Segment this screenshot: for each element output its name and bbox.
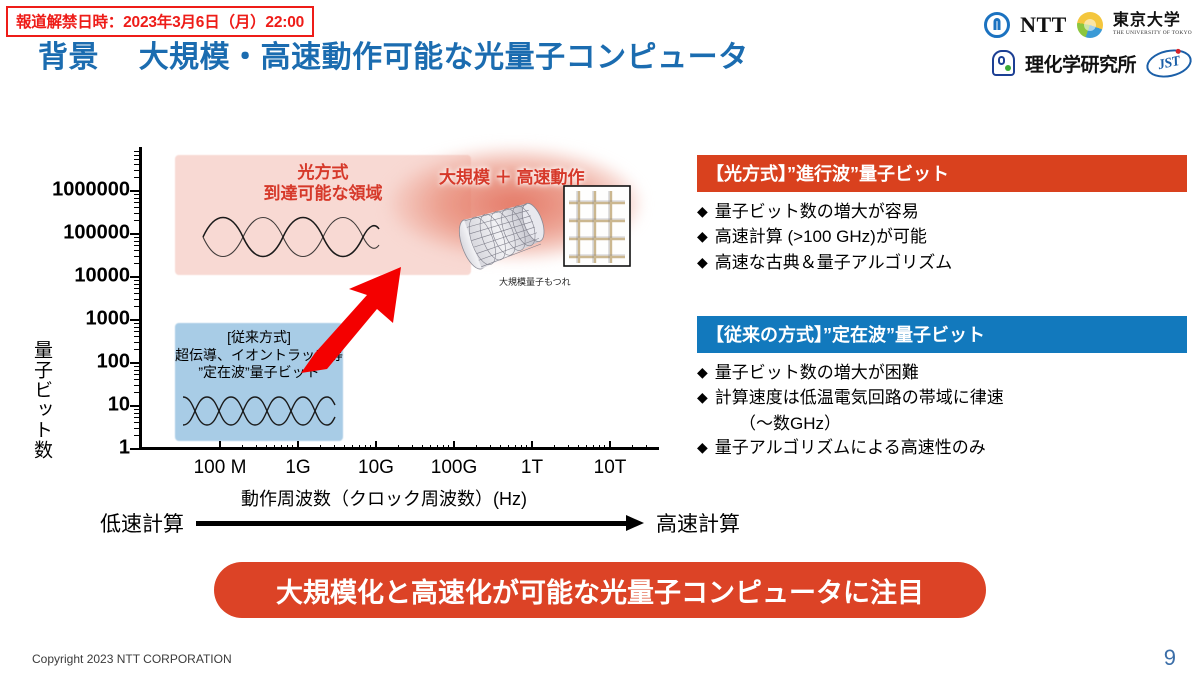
optical-method-heading: 【光方式】”進行波”量子ビット — [697, 155, 1187, 192]
diamond-bullet-icon: ◆ — [697, 362, 708, 384]
x-minor-tick — [430, 445, 431, 450]
x-minor-tick — [352, 445, 353, 450]
cluster-state-caption: 大規模量子もつれ — [499, 275, 571, 288]
y-minor-tick — [134, 250, 139, 251]
slide-root: 報道解禁日時：2023年3月6日（月）22:00 背景 大規模・高速動作可能な光… — [0, 0, 1200, 675]
x-minor-tick — [365, 445, 366, 450]
y-minor-tick — [134, 164, 139, 165]
y-minor-tick — [134, 198, 139, 199]
cluster-lattice-icon — [563, 185, 631, 267]
y-minor-tick — [134, 194, 139, 195]
x-minor-tick — [398, 445, 399, 450]
x-minor-tick — [437, 445, 438, 450]
x-minor-tick — [448, 445, 449, 450]
x-minor-tick — [334, 445, 335, 450]
tokyo-university-en: THE UNIVERSITY OF TOKYO — [1113, 31, 1192, 36]
qubit-vs-frequency-chart: 量子ビット数 光方式 到達可能な領域 [従来方式] 超伝導、イオントラップ等 ”… — [14, 140, 674, 540]
list-item: ◆ 量子アルゴリズムによる高速性のみ — [697, 437, 1187, 459]
speed-axis-left-label: 低速計算 — [100, 508, 184, 538]
x-minor-tick — [422, 445, 423, 450]
ntt-logo-label: NTT — [1020, 12, 1067, 38]
y-minor-tick — [134, 220, 139, 221]
conclusion-banner-text: 大規模化と高速化が可能な光量子コンピュータに注目 — [276, 571, 924, 610]
chart-plot-area: 光方式 到達可能な領域 [従来方式] 超伝導、イオントラップ等 ”定在波”量子ビ… — [139, 147, 659, 450]
y-minor-tick — [134, 331, 139, 332]
x-tick-label-100M: 100 M — [194, 457, 247, 479]
y-minor-tick — [134, 392, 139, 393]
y-minor-tick — [134, 237, 139, 238]
diamond-bullet-icon: ◆ — [697, 252, 708, 274]
y-minor-tick — [134, 327, 139, 328]
y-minor-tick — [134, 409, 139, 410]
y-tick-label-1000: 1000 — [86, 308, 131, 331]
list-item: ◆ 高速計算 (>100 GHz)が可能 — [697, 226, 1187, 248]
y-tick-100 — [130, 362, 139, 364]
optical-method-bullets: ◆ 量子ビット数の増大が容易 ◆ 高速計算 (>100 GHz)が可能 ◆ 高速… — [697, 201, 1187, 274]
x-minor-tick — [526, 445, 527, 450]
x-minor-tick — [281, 445, 282, 450]
list-item: ◆ 計算速度は低温電気回路の帯域に律速 — [697, 387, 1187, 409]
y-minor-tick — [134, 349, 139, 350]
x-minor-tick — [256, 445, 257, 450]
y-tick-label-10: 10 — [108, 394, 130, 417]
conclusion-banner: 大規模化と高速化が可能な光量子コンピュータに注目 — [214, 562, 986, 618]
y-minor-tick — [134, 370, 139, 371]
y-tick-1000 — [130, 319, 139, 321]
y-tick-label-100000: 100000 — [63, 222, 130, 245]
growth-arrow-icon — [297, 265, 407, 379]
y-minor-tick — [134, 256, 139, 257]
y-tick-10000 — [130, 276, 139, 278]
x-minor-tick — [320, 445, 321, 450]
x-minor-tick — [515, 445, 516, 450]
x-minor-tick — [412, 445, 413, 450]
y-tick-label-1: 1 — [119, 437, 130, 460]
y-minor-tick — [134, 159, 139, 160]
y-minor-tick — [134, 417, 139, 418]
page-number: 9 — [1164, 645, 1176, 671]
x-tick-label-10T: 10T — [594, 457, 627, 479]
x-minor-tick — [476, 445, 477, 450]
speed-arrow-bar — [196, 521, 628, 526]
x-minor-tick — [500, 445, 501, 450]
y-minor-tick — [134, 342, 139, 343]
x-minor-tick — [266, 445, 267, 450]
x-tick-100G — [453, 441, 455, 450]
conventional-method-panel: 【従来の方式】”定在波”量子ビット ◆ 量子ビット数の増大が困難 ◆ 計算速度は… — [697, 316, 1187, 463]
x-minor-tick — [287, 445, 288, 450]
copyright-text: Copyright 2023 NTT CORPORATION — [32, 652, 232, 666]
x-minor-tick — [578, 445, 579, 450]
x-minor-tick — [599, 445, 600, 450]
y-minor-tick — [134, 428, 139, 429]
x-minor-tick — [554, 445, 555, 450]
riken-logo-icon — [992, 50, 1015, 76]
diamond-bullet-icon: ◆ — [697, 437, 708, 459]
speed-axis: 低速計算 高速計算 — [100, 505, 740, 541]
list-item-text: 量子ビット数の増大が困難 — [715, 362, 919, 384]
standing-wave-icon — [181, 391, 337, 431]
y-minor-tick — [134, 435, 139, 436]
x-tick-label-10G: 10G — [358, 457, 394, 479]
y-minor-tick — [134, 336, 139, 337]
logo-row-top: NTT 東京大学 THE UNIVERSITY OF TOKYO — [912, 6, 1192, 44]
page-title-main: 大規模・高速動作可能な光量子コンピュータ — [139, 41, 749, 74]
y-minor-tick — [134, 385, 139, 386]
y-minor-tick — [134, 241, 139, 242]
list-item-text: 高速な古典＆量子アルゴリズム — [715, 252, 953, 274]
tokyo-university-jp: 東京大学 — [1113, 13, 1192, 29]
speed-axis-arrow-icon — [196, 518, 644, 528]
jst-logo-icon: JST — [1144, 45, 1195, 81]
y-minor-tick — [134, 170, 139, 171]
x-tick-label-1T: 1T — [521, 457, 543, 479]
speed-arrow-tip — [626, 515, 644, 531]
list-item-text: 計算速度は低温電気回路の帯域に律速 — [715, 387, 1004, 409]
y-tick-1000000 — [130, 190, 139, 192]
list-item: ◆ 量子ビット数の増大が困難 — [697, 362, 1187, 384]
y-tick-label-10000: 10000 — [74, 265, 130, 288]
y-minor-tick — [134, 422, 139, 423]
diamond-bullet-icon: ◆ — [697, 201, 708, 223]
conventional-method-heading: 【従来の方式】”定在波”量子ビット — [697, 316, 1187, 353]
y-minor-tick — [134, 379, 139, 380]
y-tick-10 — [130, 405, 139, 407]
y-tick-label-1000000: 1000000 — [52, 179, 130, 202]
x-minor-tick — [274, 445, 275, 450]
x-minor-tick — [344, 445, 345, 450]
y-minor-tick — [134, 374, 139, 375]
y-minor-tick — [134, 413, 139, 414]
x-tick-100M — [219, 441, 221, 450]
x-tick-label-1G: 1G — [285, 457, 310, 479]
x-minor-tick — [508, 445, 509, 450]
list-item: ◆ 量子ビット数の増大が容易 — [697, 201, 1187, 223]
chart-y-axis-title: 量子ビット数 — [28, 340, 55, 460]
y-minor-tick — [134, 366, 139, 367]
speed-axis-right-label: 高速計算 — [656, 508, 740, 538]
tokyo-university-logo-icon — [1077, 12, 1103, 38]
x-tick-1G — [297, 441, 299, 450]
x-tick-label-100G: 100G — [431, 457, 477, 479]
x-tick-10T — [609, 441, 611, 450]
list-item-text: 量子アルゴリズムによる高速性のみ — [715, 437, 986, 459]
x-minor-tick — [568, 445, 569, 450]
x-minor-tick — [292, 445, 293, 450]
y-minor-tick — [134, 177, 139, 178]
diamond-bullet-icon: ◆ — [697, 226, 708, 248]
logo-row-bottom: 理化学研究所 JST — [912, 44, 1192, 82]
y-minor-tick — [134, 299, 139, 300]
y-minor-tick — [134, 284, 139, 285]
list-item-text: 高速計算 (>100 GHz)が可能 — [715, 226, 927, 248]
y-minor-tick — [134, 293, 139, 294]
y-tick-label-100: 100 — [97, 351, 130, 374]
x-tick-10G — [375, 441, 377, 450]
y-minor-tick — [134, 202, 139, 203]
page-title: 背景 大規模・高速動作可能な光量子コンピュータ — [38, 32, 749, 76]
conventional-method-subline: （～数GHz） — [739, 413, 1187, 435]
optical-method-panel: 【光方式】”進行波”量子ビット ◆ 量子ビット数の増大が容易 ◆ 高速計算 (>… — [697, 155, 1187, 277]
diamond-bullet-icon: ◆ — [697, 387, 708, 409]
list-item-text: 量子ビット数の増大が容易 — [715, 201, 919, 223]
x-minor-tick — [242, 445, 243, 450]
x-minor-tick — [443, 445, 444, 450]
y-minor-tick — [134, 213, 139, 214]
y-minor-tick — [134, 323, 139, 324]
y-minor-tick — [134, 288, 139, 289]
x-minor-tick — [646, 445, 647, 450]
x-minor-tick — [359, 445, 360, 450]
x-minor-tick — [586, 445, 587, 450]
list-item: ◆ 高速な古典＆量子アルゴリズム — [697, 252, 1187, 274]
y-tick-100000 — [130, 233, 139, 235]
y-minor-tick — [134, 306, 139, 307]
page-title-prefix: 背景 — [38, 41, 99, 74]
y-tick-1 — [130, 448, 139, 450]
tokyo-university-logo-label: 東京大学 THE UNIVERSITY OF TOKYO — [1113, 13, 1192, 36]
x-minor-tick — [521, 445, 522, 450]
y-minor-tick — [134, 263, 139, 264]
y-minor-tick — [134, 280, 139, 281]
y-minor-tick — [134, 245, 139, 246]
riken-logo-label: 理化学研究所 — [1025, 50, 1136, 77]
y-minor-tick — [134, 207, 139, 208]
conventional-method-bullets: ◆ 量子ビット数の増大が困難 ◆ 計算速度は低温電気回路の帯域に律速 （～数GH… — [697, 362, 1187, 460]
cluster-state-cylinder-icon — [449, 191, 559, 275]
y-minor-tick — [134, 155, 139, 156]
x-minor-tick — [593, 445, 594, 450]
ntt-logo-icon — [984, 12, 1010, 38]
chart-y-axis — [139, 147, 142, 450]
x-minor-tick — [490, 445, 491, 450]
traveling-wave-icon — [201, 215, 381, 259]
x-tick-1T — [531, 441, 533, 450]
logo-group: NTT 東京大学 THE UNIVERSITY OF TOKYO 理化学研究所 … — [912, 6, 1192, 86]
x-minor-tick — [632, 445, 633, 450]
y-minor-tick — [134, 151, 139, 152]
x-minor-tick — [370, 445, 371, 450]
x-minor-tick — [604, 445, 605, 450]
jst-logo-label: JST — [1157, 53, 1182, 73]
